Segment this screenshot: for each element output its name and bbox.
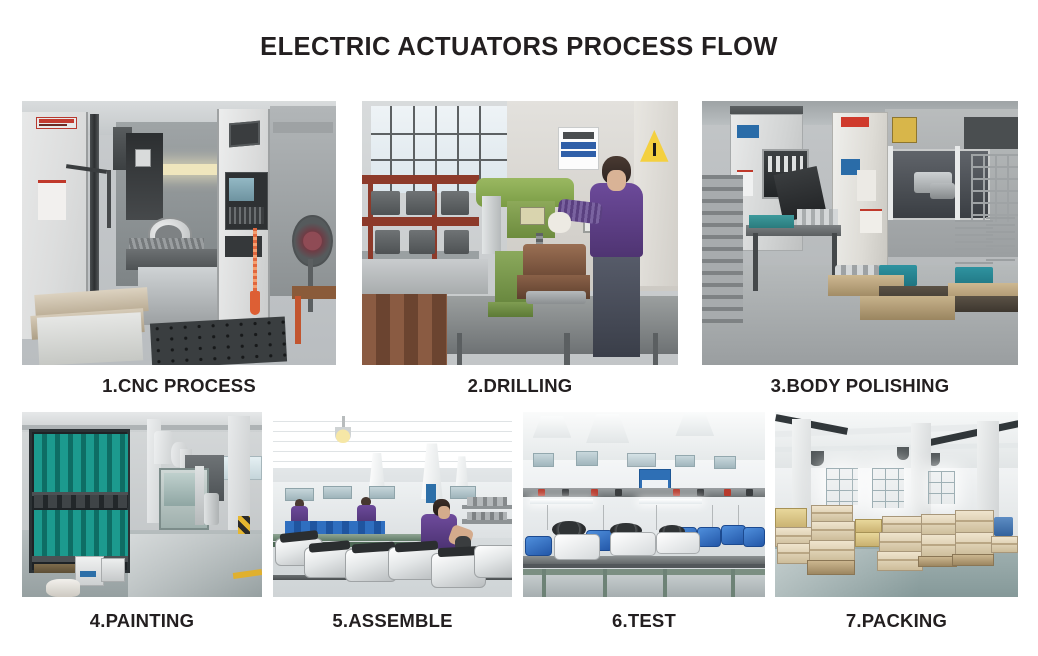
warehouse-window xyxy=(872,468,904,509)
process-step-6[interactable] xyxy=(523,412,765,597)
process-row-bottom xyxy=(0,412,1038,597)
process-step-4[interactable] xyxy=(22,412,262,597)
process-step-3[interactable] xyxy=(702,101,1018,365)
caption-step-4: 4.PAINTING xyxy=(22,604,262,638)
photo-drilling xyxy=(362,101,678,365)
process-step-5[interactable] xyxy=(273,412,512,597)
photo-painting xyxy=(22,412,262,597)
ceiling-lamp xyxy=(335,427,351,444)
process-flow-infographic: ELECTRIC ACTUATORS PROCESS FLOW xyxy=(0,0,1038,656)
caption-step-2: 2.DRILLING xyxy=(362,369,678,403)
caption-step-6: 6.TEST xyxy=(523,604,765,638)
process-step-7[interactable] xyxy=(775,412,1018,597)
photo-assemble xyxy=(273,412,512,597)
caption-step-7: 7.PACKING xyxy=(775,604,1018,638)
process-step-1[interactable] xyxy=(22,101,336,365)
photo-test xyxy=(523,412,765,597)
caption-step-3: 3.BODY POLISHING xyxy=(702,369,1018,403)
warehouse-window xyxy=(826,468,858,505)
caption-row-bottom: 4.PAINTING 5.ASSEMBLE 6.TEST 7.PACKING xyxy=(0,604,1038,638)
process-step-2[interactable] xyxy=(362,101,678,365)
wall-notice-board xyxy=(558,127,599,169)
caption-row-top: 1.CNC PROCESS 2.DRILLING 3.BODY POLISHIN… xyxy=(0,369,1038,403)
painted-parts-row-bottom xyxy=(34,510,128,558)
caption-step-5: 5.ASSEMBLE xyxy=(273,604,512,638)
photo-packing xyxy=(775,412,1018,597)
page-title: ELECTRIC ACTUATORS PROCESS FLOW xyxy=(260,33,778,62)
machine-brand-logo xyxy=(36,117,77,129)
title-bar: ELECTRIC ACTUATORS PROCESS FLOW xyxy=(0,0,1038,95)
photo-body-polishing xyxy=(702,101,1018,365)
process-row-top xyxy=(0,101,1038,365)
painted-parts-row-top xyxy=(34,434,128,493)
warehouse-window xyxy=(928,471,955,504)
photo-cnc-process xyxy=(22,101,336,365)
casting-stack xyxy=(702,175,743,323)
caption-step-1: 1.CNC PROCESS xyxy=(22,369,336,403)
